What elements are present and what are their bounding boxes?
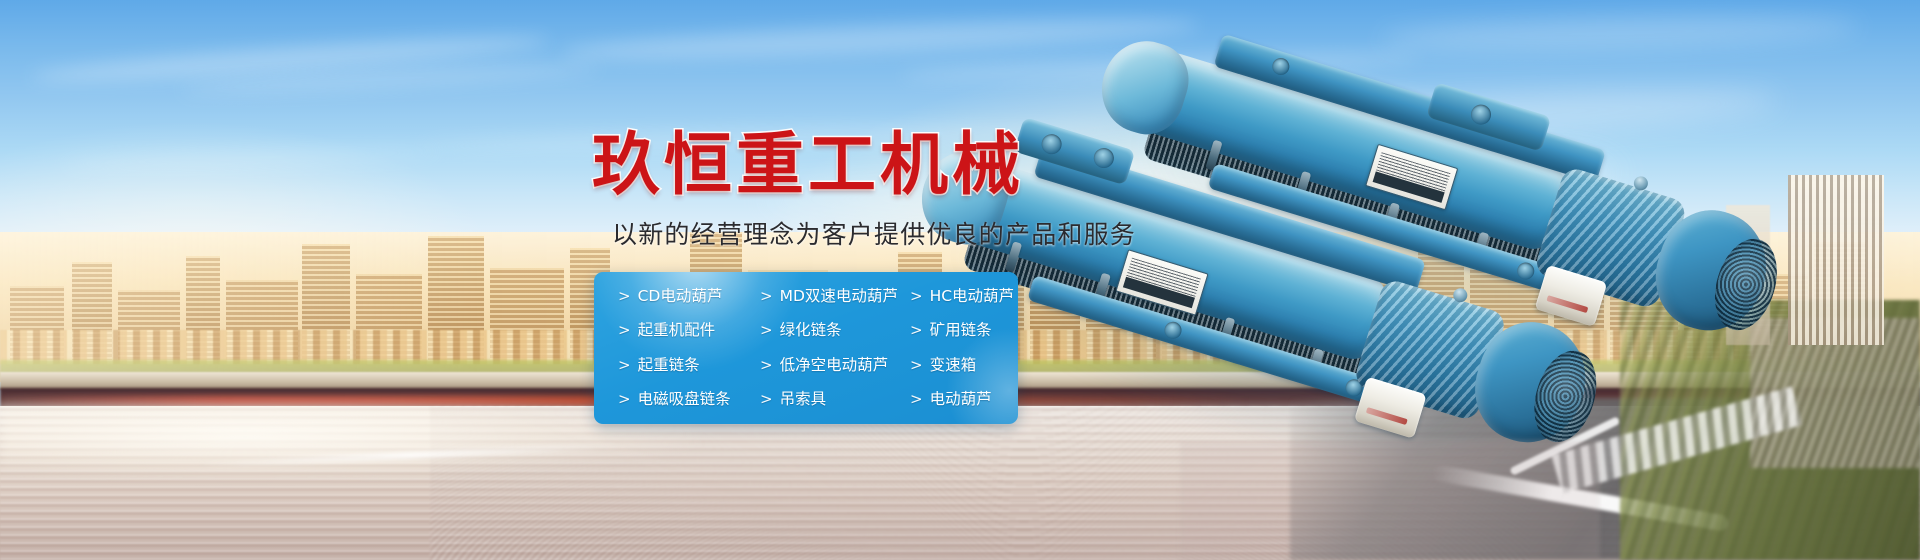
junction-box-label <box>1365 407 1407 425</box>
chevron-right-icon: > <box>760 392 773 407</box>
product-link-slings[interactable]: > 吊索具 <box>760 392 910 408</box>
product-link-greening-chain[interactable]: > 绿化链条 <box>760 323 910 339</box>
product-link-md-dual-speed-hoist[interactable]: > MD双速电动葫芦 <box>760 289 910 305</box>
chevron-right-icon: > <box>910 358 923 373</box>
product-link-magnetic-chuck-chain[interactable]: > 电磁吸盘链条 <box>618 392 760 408</box>
product-link-cd-hoist[interactable]: > CD电动葫芦 <box>618 289 760 305</box>
banner-headline: 玖恒重工机械 <box>592 132 1024 200</box>
chevron-right-icon: > <box>910 323 923 338</box>
product-link-hc-hoist[interactable]: > HC电动葫芦 <box>910 289 1018 305</box>
product-link-lifting-chain[interactable]: > 起重链条 <box>618 358 760 374</box>
promotional-banner: 玖恒重工机械 以新的经营理念为客户提供优良的产品和服务 > CD电动葫芦 > M… <box>0 0 1920 560</box>
product-link-label: 吊索具 <box>780 392 827 408</box>
chevron-right-icon: > <box>618 323 631 338</box>
product-link-label: 起重机配件 <box>638 323 716 339</box>
product-link-label: HC电动葫芦 <box>930 289 1014 305</box>
chevron-right-icon: > <box>618 392 631 407</box>
product-category-box: > CD电动葫芦 > MD双速电动葫芦 > HC电动葫芦 > 起重机配件 > 绿… <box>594 272 1018 424</box>
product-category-grid: > CD电动葫芦 > MD双速电动葫芦 > HC电动葫芦 > 起重机配件 > 绿… <box>594 272 1018 424</box>
product-link-electric-hoist[interactable]: > 电动葫芦 <box>910 392 1018 408</box>
product-link-label: 变速箱 <box>930 358 977 374</box>
chevron-right-icon: > <box>760 289 773 304</box>
chevron-right-icon: > <box>760 323 773 338</box>
chevron-right-icon: > <box>618 358 631 373</box>
banner-subheadline: 以新的经营理念为客户提供优良的产品和服务 <box>612 220 1136 250</box>
product-link-label: CD电动葫芦 <box>638 289 723 305</box>
product-link-gearbox[interactable]: > 变速箱 <box>910 358 1018 374</box>
product-link-crane-parts[interactable]: > 起重机配件 <box>618 323 760 339</box>
product-link-label: 矿用链条 <box>930 323 992 339</box>
product-link-mining-chain[interactable]: > 矿用链条 <box>910 323 1018 339</box>
product-link-label: 绿化链条 <box>780 323 842 339</box>
product-link-label: MD双速电动葫芦 <box>780 289 898 305</box>
chevron-right-icon: > <box>910 289 923 304</box>
product-link-low-headroom-hoist[interactable]: > 低净空电动葫芦 <box>760 358 910 374</box>
building-tall-right <box>1788 175 1884 345</box>
chevron-right-icon: > <box>760 358 773 373</box>
product-link-label: 电磁吸盘链条 <box>638 392 731 408</box>
chevron-right-icon: > <box>618 289 631 304</box>
chevron-right-icon: > <box>910 392 923 407</box>
product-link-label: 电动葫芦 <box>930 392 992 408</box>
product-link-label: 起重链条 <box>638 358 700 374</box>
product-link-label: 低净空电动葫芦 <box>780 358 889 374</box>
